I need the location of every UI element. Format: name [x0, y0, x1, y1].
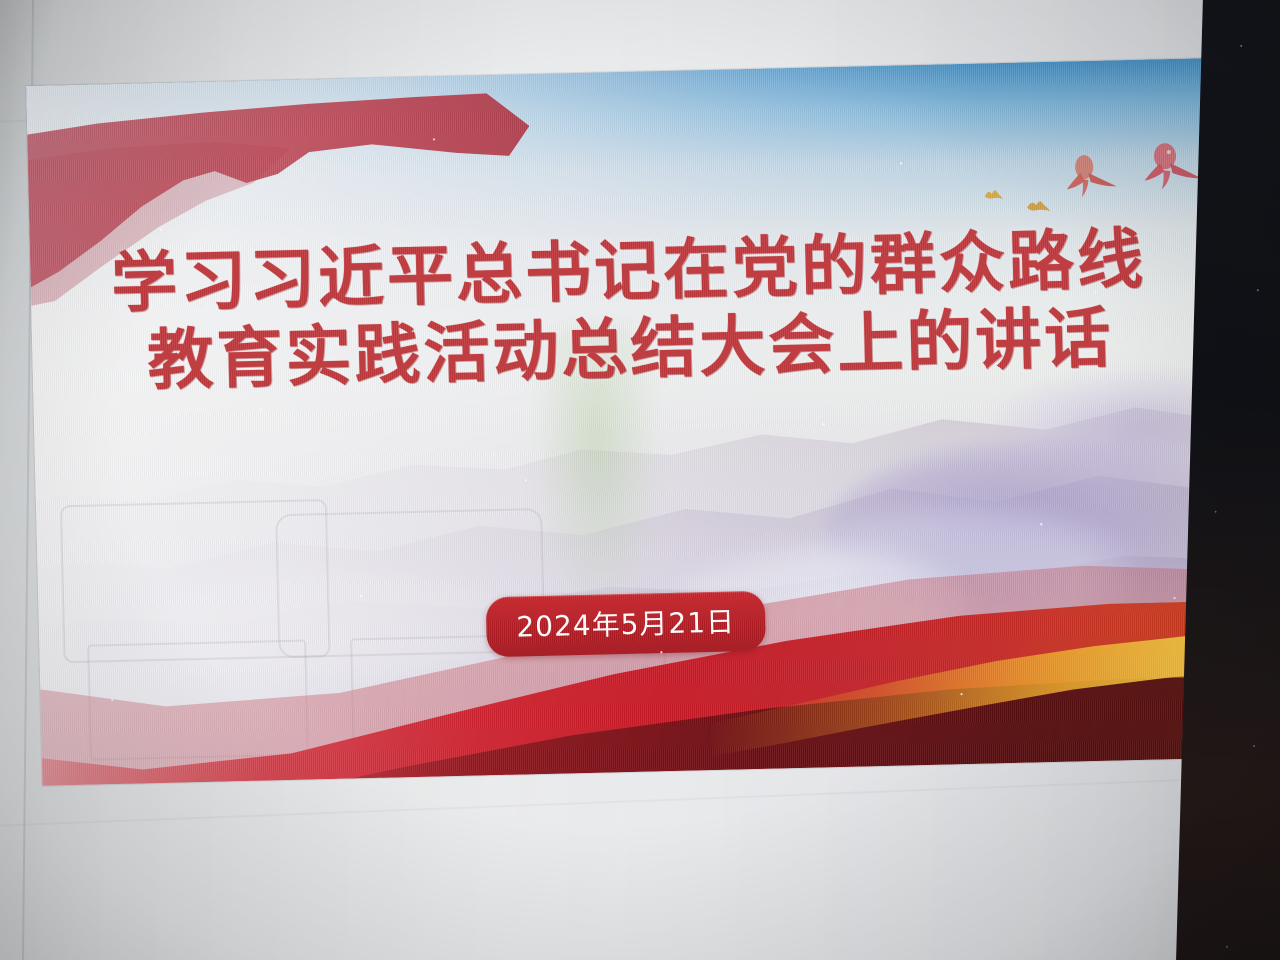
date-badge: 2024年5月21日	[486, 590, 766, 657]
photo-scene: 学习习近平总书记在党的群众路线 教育实践活动总结大会上的讲话 2024年5月21…	[0, 0, 1280, 960]
projected-slide: 学习习近平总书记在党的群众路线 教育实践活动总结大会上的讲话 2024年5月21…	[26, 58, 1238, 786]
slide-title: 学习习近平总书记在党的群众路线 教育实践活动总结大会上的讲话	[30, 219, 1229, 403]
slide-canvas: 学习习近平总书记在党的群众路线 教育实践活动总结大会上的讲话 2024年5月21…	[26, 58, 1238, 786]
